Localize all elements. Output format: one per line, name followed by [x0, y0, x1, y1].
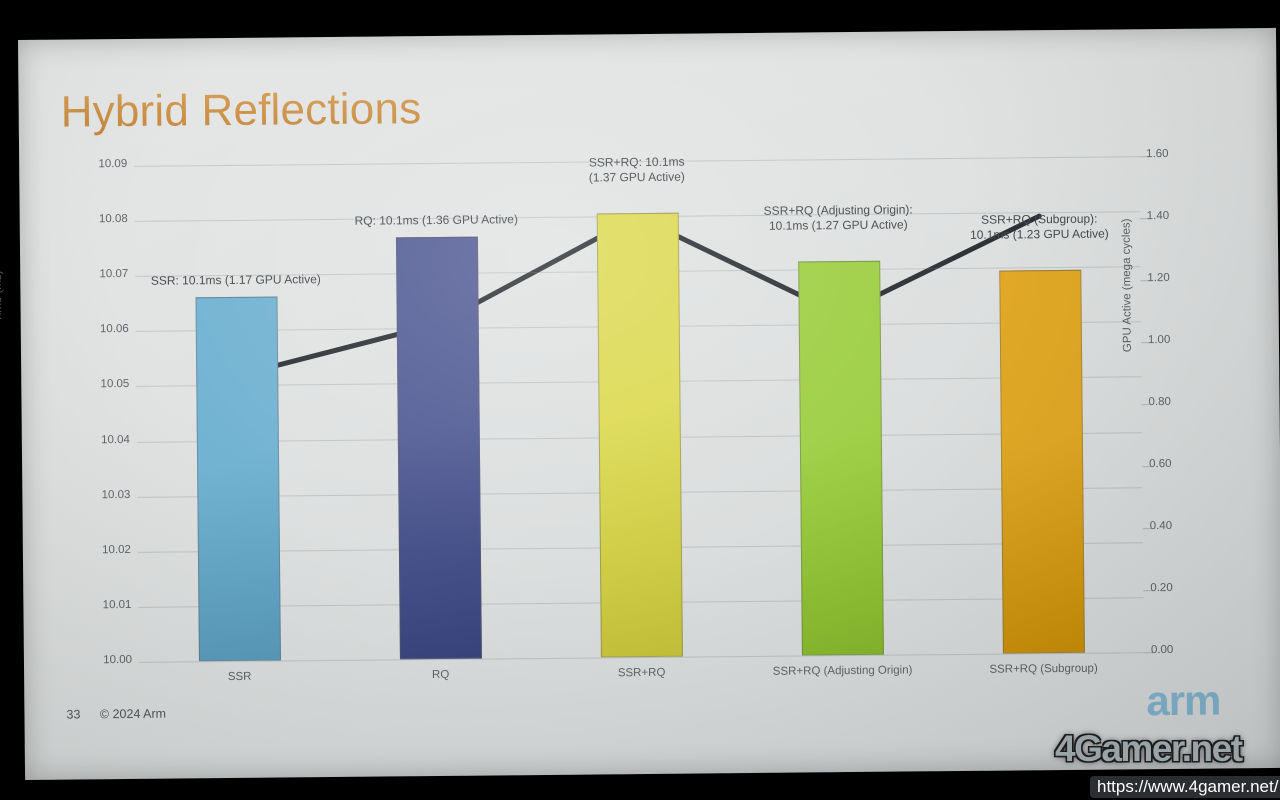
data-label: SSR+RQ: 10.1ms(1.37 GPU Active)	[589, 155, 685, 186]
left-axis-tick: 10.04	[101, 433, 130, 445]
right-axis-tick: 0.00	[1151, 644, 1174, 656]
right-axis-tick: 0.80	[1148, 396, 1171, 408]
right-axis-tick-mark	[1144, 652, 1153, 653]
data-label-line: SSR+RQ (Subgroup):	[970, 212, 1109, 228]
data-label: SSR: 10.1ms (1.17 GPU Active)	[151, 272, 321, 289]
bar-ssr-rq-subgroup[interactable]	[999, 270, 1085, 654]
right-axis-title: GPU Active (mega cycles)	[1121, 219, 1134, 353]
right-axis-tick-mark	[1143, 590, 1152, 591]
data-label: RQ: 10.1ms (1.36 GPU Active)	[354, 213, 518, 230]
bar-rq[interactable]	[395, 237, 481, 659]
data-label: SSR+RQ (Adjusting Origin):10.1ms (1.27 G…	[764, 202, 913, 233]
data-label-line: 10.1ms (1.27 GPU Active)	[764, 217, 913, 233]
category-label: SSR+RQ (Subgroup)	[989, 663, 1097, 676]
right-axis-tick: 0.60	[1149, 458, 1172, 470]
right-axis-tick-mark	[1142, 404, 1151, 405]
category-label: RQ	[432, 669, 449, 681]
right-axis-tick: 0.20	[1150, 582, 1173, 594]
left-axis-title: Time (ms)	[0, 270, 4, 321]
photo-of-projected-slide: Hybrid Reflections 10.0010.0110.0210.031…	[0, 0, 1280, 800]
right-axis-tick: 0.40	[1150, 520, 1173, 532]
data-label-line: 10.1ms (1.23 GPU Active)	[970, 227, 1109, 243]
presentation-slide: Hybrid Reflections 10.0010.0110.0210.031…	[18, 28, 1280, 780]
left-axis-tick: 10.09	[98, 158, 127, 170]
data-label-line: (1.37 GPU Active)	[589, 170, 685, 186]
data-label-line: SSR+RQ (Adjusting Origin):	[764, 202, 913, 218]
left-axis-tick: 10.00	[103, 654, 132, 666]
4gamer-watermark: 4Gamer.net	[1055, 728, 1242, 770]
left-axis-tick: 10.01	[103, 599, 132, 611]
data-label-line: SSR: 10.1ms (1.17 GPU Active)	[151, 272, 321, 289]
bar-ssr[interactable]	[195, 297, 280, 661]
category-label: SSR+RQ (Adjusting Origin)	[773, 664, 913, 677]
bar-ssr-rq-adjusting-origin[interactable]	[798, 261, 884, 656]
plot-area: 10.0010.0110.0210.0310.0410.0510.0610.07…	[134, 156, 1144, 662]
right-axis-tick-mark	[1143, 528, 1152, 529]
bar-ssr-rq[interactable]	[596, 213, 682, 657]
left-axis-tick: 10.06	[100, 323, 129, 335]
slide-footer: 33 © 2024 Arm	[66, 706, 182, 721]
left-axis-tick: 10.08	[99, 213, 128, 225]
right-axis-tick: 1.60	[1146, 148, 1169, 160]
right-axis-tick-mark	[1141, 342, 1150, 343]
page-number: 33	[66, 707, 80, 721]
left-axis-tick: 10.03	[102, 489, 131, 501]
4gamer-url: https://www.4gamer.net/	[1090, 776, 1280, 798]
right-axis-tick: 1.20	[1147, 272, 1170, 284]
left-axis-tick: 10.07	[99, 268, 128, 280]
category-label: SSR+RQ	[618, 667, 666, 679]
left-axis-tick: 10.02	[102, 544, 131, 556]
arm-logo: arm	[1146, 676, 1221, 725]
hybrid-reflections-chart: 10.0010.0110.0210.0310.0410.0510.0610.07…	[18, 28, 1280, 740]
right-axis-tick-mark	[1142, 466, 1151, 467]
right-axis-tick-mark	[1140, 218, 1149, 219]
right-axis-tick: 1.00	[1148, 334, 1171, 346]
right-axis-tick: 1.40	[1147, 210, 1170, 222]
data-label-line: SSR+RQ: 10.1ms	[589, 155, 685, 171]
right-axis-tick-mark	[1139, 156, 1148, 157]
data-label: SSR+RQ (Subgroup):10.1ms (1.23 GPU Activ…	[970, 212, 1109, 243]
left-axis-tick: 10.05	[100, 378, 129, 390]
data-label-line: RQ: 10.1ms (1.36 GPU Active)	[354, 213, 518, 230]
category-label: SSR	[228, 671, 252, 683]
copyright-notice: © 2024 Arm	[100, 707, 166, 722]
right-axis-tick-mark	[1140, 280, 1149, 281]
